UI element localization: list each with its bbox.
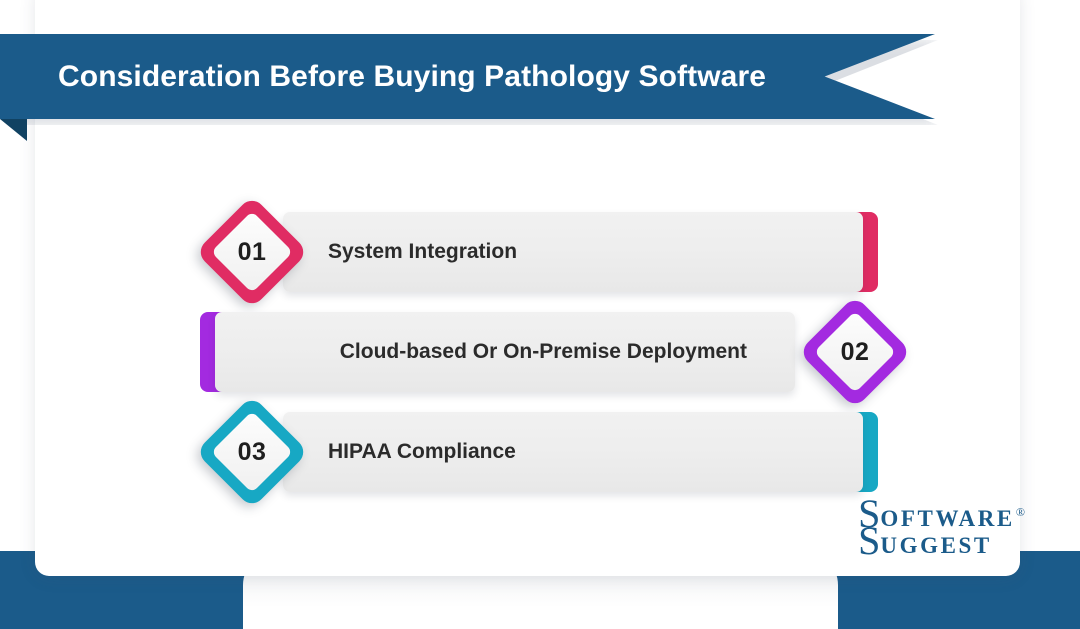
number-badge-02: 02	[798, 295, 911, 408]
logo-line-1: S oftware ®	[858, 494, 1024, 534]
list-item[interactable]: Cloud-based Or On-Premise Deployment 02	[0, 302, 1080, 402]
logo-capital-s-2: S	[858, 521, 880, 561]
registered-trademark-icon: ®	[1016, 506, 1025, 518]
list-item-label: System Integration	[328, 212, 517, 292]
page-title: Consideration Before Buying Pathology So…	[58, 34, 766, 119]
list-item[interactable]: System Integration 01	[0, 202, 1080, 302]
list-item-number: 02	[815, 312, 895, 392]
label-bar-01: System Integration	[283, 212, 863, 292]
number-badge-03: 03	[195, 395, 308, 508]
consideration-list: System Integration 01 Cloud-based Or On-…	[0, 202, 1080, 502]
list-item[interactable]: HIPAA Compliance 03	[0, 402, 1080, 502]
logo-word-suggest: uggest	[880, 534, 991, 557]
list-item-number: 03	[212, 412, 292, 492]
infographic-canvas: Consideration Before Buying Pathology So…	[0, 0, 1080, 629]
list-item-number: 01	[212, 212, 292, 292]
list-item-label: HIPAA Compliance	[328, 412, 516, 492]
list-item-label: Cloud-based Or On-Premise Deployment	[340, 312, 747, 392]
label-bar-03: HIPAA Compliance	[283, 412, 863, 492]
label-bar-02: Cloud-based Or On-Premise Deployment	[215, 312, 795, 392]
logo-word-software: oftware	[880, 507, 1015, 530]
header-ribbon: Consideration Before Buying Pathology So…	[0, 34, 940, 119]
ribbon-fold-tail	[0, 119, 27, 141]
number-badge-01: 01	[195, 195, 308, 308]
softwaresuggest-logo: S oftware ® S uggest	[858, 494, 1024, 561]
